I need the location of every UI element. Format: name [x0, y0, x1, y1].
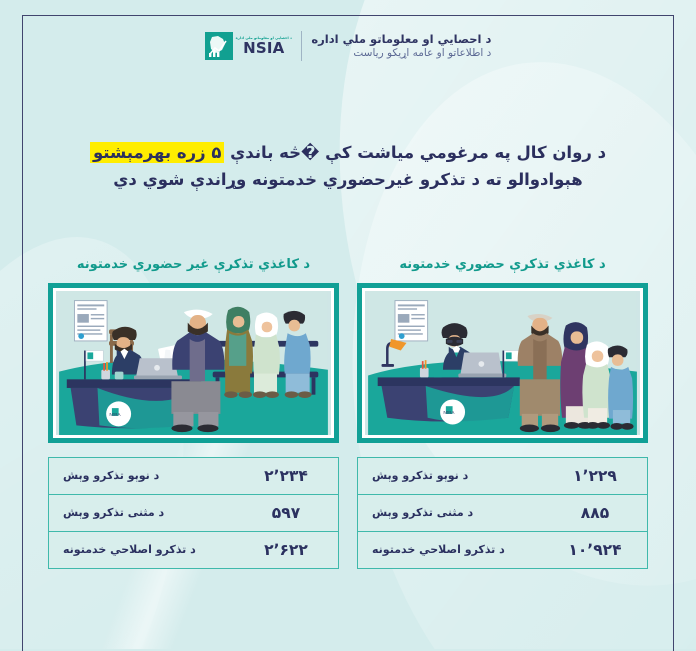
stat-value: ۵۹۷: [234, 504, 338, 522]
svg-text:NSIA: NSIA: [109, 411, 121, 417]
column-title-in-person: د کاغذي تذکرې حضوري خدمتونه: [357, 256, 648, 274]
headline-line-1-text: د روان کال په مرغومي مياشت کې �څه باندې: [224, 143, 606, 162]
stat-value: ۱٬۲۲۹: [543, 467, 647, 485]
headline-line-2: هېوادوالو ته د تذکرو غيرحضوري خدمتونه وړ…: [50, 167, 646, 194]
headline-highlight: ۵ زره بهرمېشتو: [90, 142, 224, 163]
table-row: د مثنی تذکرو وېش ۸۸۵: [358, 495, 647, 532]
svg-text:NSIA: NSIA: [443, 409, 455, 415]
brand-divider: [301, 31, 303, 61]
stat-label: د نوېو تذکرو وېش: [358, 469, 543, 482]
headline-line-1: د روان کال په مرغومي مياشت کې �څه باندې …: [50, 140, 646, 167]
stat-label: د تذکرو اصلاحي خدمتونه: [49, 543, 234, 556]
brand-title-secondary: د اطلاعاتو او عامه اړیکو ریاست: [353, 47, 491, 60]
stat-value: ۸۸۵: [543, 504, 647, 522]
headline: د روان کال په مرغومي مياشت کې �څه باندې …: [50, 140, 646, 193]
illustration-in-person-office-scene: NSIA: [365, 291, 640, 435]
stat-label: د مثنی تذکرو وېش: [49, 506, 234, 519]
table-row: د نوېو تذکرو وېش ۲٬۲۳۴: [49, 458, 338, 495]
stat-value: ۲٬۶۲۲: [234, 541, 338, 559]
table-row: د مثنی تذکرو وېش ۵۹۷: [49, 495, 338, 532]
column-in-person-services: د کاغذي تذکرې حضوري خدمتونه: [357, 256, 648, 569]
brand-text-block: د احصايي او معلوماتو ملي اداره د اطلاعات…: [311, 32, 491, 60]
logo-wordmark: د احصايي او معلوماتو ملي اداره NSIA: [236, 36, 292, 56]
illustration-remote-document-handover-scene: NSIA: [56, 291, 331, 435]
logo-nsia-text: NSIA: [243, 41, 284, 56]
stat-label: د مثنی تذکرو وېش: [358, 506, 543, 519]
nsia-logo: د احصايي او معلوماتو ملي اداره NSIA: [205, 32, 292, 60]
columns-container: د کاغذي تذکرې حضوري خدمتونه: [48, 256, 648, 569]
column-remote-services: د کاغذي تذکرې غیر حضوري خدمتونه: [48, 256, 339, 569]
stats-table-remote: د نوېو تذکرو وېش ۲٬۲۳۴ د مثنی تذکرو وېش …: [48, 457, 339, 569]
brand-header: د احصايي او معلوماتو ملي اداره د اطلاعات…: [0, 31, 696, 61]
stat-label: د تذکرو اصلاحي خدمتونه: [358, 543, 543, 556]
table-row: د تذکرو اصلاحي خدمتونه ۲٬۶۲۲: [49, 532, 338, 569]
column-title-remote: د کاغذي تذکرې غیر حضوري خدمتونه: [48, 256, 339, 274]
logo-map-chart-icon: [205, 32, 233, 60]
stat-value: ۲٬۲۳۴: [234, 467, 338, 485]
table-row: د نوېو تذکرو وېش ۱٬۲۲۹: [358, 458, 647, 495]
illustration-panel-remote: NSIA: [48, 283, 339, 443]
illustration-panel-in-person: NSIA: [357, 283, 648, 443]
stat-label: د نوېو تذکرو وېش: [49, 469, 234, 482]
brand-title-primary: د احصايي او معلوماتو ملي اداره: [311, 32, 491, 46]
table-row: د تذکرو اصلاحي خدمتونه ۱۰٬۹۲۴: [358, 532, 647, 569]
stat-value: ۱۰٬۹۲۴: [543, 541, 647, 559]
stats-table-in-person: د نوېو تذکرو وېش ۱٬۲۲۹ د مثنی تذکرو وېش …: [357, 457, 648, 569]
